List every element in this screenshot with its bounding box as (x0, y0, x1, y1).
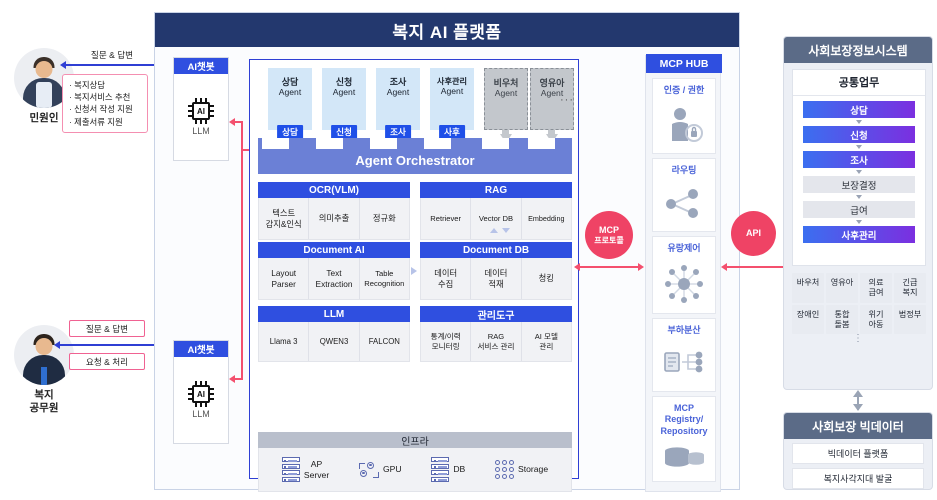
orch-notch (528, 138, 555, 149)
module-document-ai-title: Document AI (258, 242, 410, 258)
storage-grid-icon (495, 460, 514, 479)
database-rack-icon (431, 457, 449, 482)
ai-chip-icon: AI (188, 98, 214, 124)
bigdata-to-sbis-arrow-icon (853, 390, 863, 397)
module-llm: LLM Llama 3 QWEN3 FALCON (258, 306, 410, 362)
orch-notch (482, 138, 509, 149)
mcp-protocol-arrow-line (580, 266, 640, 268)
hub-spokes-icon (653, 254, 715, 313)
agent-name-ko: 조사 (390, 77, 407, 87)
ai-chatbot-officer-header: AI챗봇 (174, 341, 228, 357)
module-docai-cell-3: Table Recognition (360, 258, 409, 299)
agent-card-investigation[interactable]: 조사 Agent 조사 (376, 68, 420, 130)
agent-name-en: Agent (279, 87, 301, 97)
flow-arrow-icon (856, 120, 862, 124)
service-legal-dept[interactable]: 법정부 (894, 305, 926, 335)
service-emergency-welfare[interactable]: 긴급 복지 (894, 273, 926, 303)
mcp-protocol-circle: MCP 프로토콜 (585, 211, 633, 259)
infra-item-storage: Storage (495, 460, 548, 479)
rag-db-down-arrow-icon (502, 228, 510, 233)
hub-card-routing[interactable]: 라우팅 (652, 158, 716, 232)
agent-badge: 사후 (439, 125, 465, 139)
connector-orch-to-chatbots-vertical (241, 121, 243, 379)
module-admin-tools: 관리도구 통계/이력 모니터링 RAG 서비스 관리 AI 모델 관리 (420, 306, 572, 362)
service-crisis-children[interactable]: 위기 아동 (860, 305, 892, 335)
hub-card-flow-control-label: 유랑제어 (667, 243, 700, 254)
database-stack-icon (653, 437, 715, 481)
orchestrator-label: Agent Orchestrator (355, 153, 474, 168)
agent-orchestrator-bar: Agent Orchestrator (258, 138, 572, 174)
api-arrow-line (727, 266, 785, 268)
module-ocr: OCR(VLM) 텍스트 감지&인식 의미추출 정규화 (258, 182, 410, 240)
module-ocr-title: OCR(VLM) (258, 182, 410, 198)
mcp-protocol-line2: 프로토콜 (594, 236, 623, 246)
module-ocr-cell-2: 의미추출 (309, 198, 359, 239)
rag-db-up-arrow-icon (490, 228, 498, 233)
arrow-officer-head-left (54, 341, 60, 349)
bigdata-row-blindspot[interactable]: 복지사각지대 발굴 (792, 468, 924, 489)
agent-name-en: Agent (387, 87, 409, 97)
services-vertical-ellipsis: ⋮ (784, 333, 934, 344)
hub-card-flow-control[interactable]: 유랑제어 (652, 236, 716, 314)
module-llm-cell-1: Llama 3 (259, 322, 309, 361)
user-lock-icon (653, 96, 715, 153)
arrow-officer-line (60, 344, 162, 346)
agent-name-ko: 신청 (336, 77, 353, 87)
bigdata-row-platform[interactable]: 빅데이터 플랫폼 (792, 443, 924, 464)
agent-name-ko: 비우처 (494, 78, 519, 88)
ai-chatbot-officer[interactable]: AI챗봇 AI LLM (173, 340, 229, 444)
flow-arrow-icon (856, 195, 862, 199)
infra-label-storage: Storage (518, 464, 548, 474)
hub-card-registry-label: MCP Registry/ Repository (660, 403, 707, 437)
module-llm-title: LLM (258, 306, 410, 322)
module-docdb-cell-2: 데이터 적재 (471, 258, 521, 299)
arrow-citizen-head-left (60, 61, 66, 69)
docai-to-docdb-arrow-icon (411, 267, 417, 275)
module-rag-title: RAG (420, 182, 572, 198)
ai-chip-icon: AI (188, 381, 214, 407)
service-disabled[interactable]: 장애인 (792, 305, 824, 335)
server-rack-icon (282, 457, 300, 482)
tech-stack-frame: 상담 Agent 상담 신청 Agent 신청 조사 Agent 조사 사후관리… (249, 59, 579, 479)
officer-name-line1: 복지 (34, 389, 53, 401)
ai-chip-label: AI (192, 102, 210, 120)
module-document-db-title: Document DB (420, 242, 572, 258)
flow-step-guarantee-decision[interactable]: 보장결정 (803, 176, 915, 193)
module-docai-cell-1: Layout Parser (259, 258, 309, 299)
flow-step-benefit[interactable]: 급여 (803, 201, 915, 218)
service-medical-benefit[interactable]: 의료 급여 (860, 273, 892, 303)
flow-arrow-icon (856, 145, 862, 149)
service-voucher[interactable]: 바우처 (792, 273, 824, 303)
gpu-icon (359, 461, 379, 479)
agent-card-aftercare[interactable]: 사후관리 Agent 사후 (430, 68, 474, 130)
infra-label-ap-server: AP Server (304, 459, 329, 480)
mcp-hub-title: MCP HUB (646, 54, 722, 73)
infra-section: 인프라 AP Server GPU DB (258, 432, 572, 492)
hub-card-load-balancing-label: 부하분산 (667, 325, 700, 336)
flow-arrow-icon (856, 220, 862, 224)
flow-arrow-icon (856, 170, 862, 174)
flow-step-consultation[interactable]: 상담 (803, 101, 915, 118)
api-circle: API (731, 211, 776, 256)
module-llm-cell-3: FALCON (360, 322, 409, 361)
agent-name-ko: 사후관리 (437, 77, 467, 86)
agent-card-consultation[interactable]: 상담 Agent 상담 (268, 68, 312, 130)
mcp-protocol-arrow-head-right (638, 263, 644, 271)
flow-step-aftercare[interactable]: 사후관리 (803, 226, 915, 243)
ai-chatbot-citizen[interactable]: AI챗봇 AI LLM (173, 57, 229, 161)
service-grid: 바우처 영유아 의료 급여 긴급 복지 장애인 통합 돌봄 위기 아동 법정부 (792, 273, 926, 334)
load-balancer-icon (653, 336, 715, 391)
arrow-label-officer-request: 요청 & 처리 (69, 353, 145, 370)
social-security-bigdata-panel: 사회보장 빅데이터 빅데이터 플랫폼 복지사각지대 발굴 (783, 412, 933, 490)
hub-card-routing-label: 라우팅 (672, 165, 697, 176)
infra-label-db: DB (453, 464, 465, 474)
sbis-to-bigdata-arrow-icon (853, 404, 863, 411)
agent-name-en: Agent (495, 88, 517, 98)
service-infant[interactable]: 영유아 (826, 273, 858, 303)
routing-nodes-icon (653, 176, 715, 231)
orch-notch (262, 138, 289, 149)
actor-welfare-officer: 복지 공무원 (6, 325, 82, 415)
orch-notch (370, 138, 397, 149)
module-admin-cell-3: AI 모델 관리 (522, 322, 571, 361)
agent-row: 상담 Agent 상담 신청 Agent 신청 조사 Agent 조사 사후관리… (258, 68, 572, 144)
agents-ellipsis: ··· (560, 94, 574, 106)
ai-chatbot-citizen-header: AI챗봇 (174, 58, 228, 74)
agent-name-ko: 상담 (282, 77, 299, 87)
officer-name-line2: 공무원 (30, 402, 59, 414)
agent-badge: 신청 (331, 125, 357, 139)
api-arrow-head-left (721, 263, 727, 271)
module-document-ai: Document AI Layout Parser Text Extractio… (258, 242, 410, 300)
agent-name-en: Agent (333, 87, 355, 97)
module-rag-cell-3: Embedding (522, 198, 571, 239)
common-business-box: 공통업무 상담 신청 조사 보장결정 급여 사후관리 (792, 69, 926, 266)
hub-card-registry[interactable]: MCP Registry/ Repository (652, 396, 716, 482)
agent-card-application[interactable]: 신청 Agent 신청 (322, 68, 366, 130)
orch-notch (424, 138, 451, 149)
module-docdb-cell-1: 데이터 수집 (421, 258, 471, 299)
flow-step-application[interactable]: 신청 (803, 126, 915, 143)
common-business-title: 공통업무 (793, 70, 925, 96)
module-admin-tools-title: 관리도구 (420, 306, 572, 322)
agent-card-voucher[interactable]: 비우처 Agent (484, 68, 528, 130)
arrow-label-citizen-qa: 질문 & 답변 (76, 47, 148, 62)
service-integrated-care[interactable]: 통합 돌봄 (826, 305, 858, 335)
llm-label-officer: LLM (192, 409, 210, 419)
infra-item-gpu: GPU (359, 461, 402, 479)
citizen-capability-1: · 복지상담 (69, 79, 141, 91)
hub-card-auth[interactable]: 인증 / 권한 (652, 78, 716, 154)
connector-orch-to-officer-h (235, 378, 243, 380)
api-label: API (746, 228, 761, 239)
hub-card-load-balancing[interactable]: 부하분산 (652, 318, 716, 392)
orch-notch (316, 138, 343, 149)
connector-officer-arrowhead (229, 375, 235, 383)
infra-item-ap-server: AP Server (282, 457, 329, 482)
agent-name-ko: 영유아 (540, 78, 565, 88)
module-docai-cell-2: Text Extraction (309, 258, 359, 299)
module-document-db: Document DB 데이터 수집 데이터 적재 청킹 (420, 242, 572, 300)
agent-name-en: Agent (441, 86, 463, 96)
llm-label-citizen: LLM (192, 126, 210, 136)
arrow-label-officer-qa: 질문 & 답변 (69, 320, 145, 337)
citizen-capability-2: · 복지서비스 추천 (69, 91, 141, 103)
module-admin-cell-2: RAG 서비스 관리 (471, 322, 521, 361)
module-ocr-cell-1: 텍스트 감지&인식 (259, 198, 309, 239)
infra-item-db: DB (431, 457, 465, 482)
citizen-capability-list: · 복지상담 · 복지서비스 추천 · 신청서 작성 지원 · 제출서류 지원 (62, 74, 148, 133)
module-ocr-cell-3: 정규화 (360, 198, 409, 239)
mcp-protocol-line1: MCP (599, 225, 619, 236)
arrow-citizen-line (66, 64, 162, 66)
hub-card-auth-label: 인증 / 권한 (664, 85, 705, 96)
mcp-protocol-arrow-head-left (574, 263, 580, 271)
connector-citizen-arrowhead (229, 118, 235, 126)
bigdata-title: 사회보장 빅데이터 (784, 413, 932, 439)
connector-orch-to-citizen-h (235, 121, 243, 123)
module-admin-cell-1: 통계/이력 모니터링 (421, 322, 471, 361)
module-rag-cell-1: Retriever (421, 198, 471, 239)
module-llm-cell-2: QWEN3 (309, 322, 359, 361)
infra-title: 인프라 (258, 432, 572, 448)
infra-label-gpu: GPU (383, 464, 402, 474)
flow-step-investigation[interactable]: 조사 (803, 151, 915, 168)
avatar-welfare-officer (14, 325, 74, 385)
platform-title: 복지 AI 플랫폼 (155, 13, 739, 47)
mcp-hub-panel: MCP HUB 인증 / 권한 라우팅 유랑제어 (645, 55, 721, 492)
citizen-capability-3: · 신청서 작성 지원 (69, 103, 141, 115)
ai-chip-label: AI (192, 385, 210, 403)
citizen-capability-4: · 제출서류 지원 (69, 116, 141, 128)
social-security-info-system-panel: 사회보장정보시스템 공통업무 상담 신청 조사 보장결정 급여 사후관리 바우처… (783, 36, 933, 390)
module-docdb-cell-3: 청킹 (522, 258, 571, 299)
agent-badge: 조사 (385, 125, 411, 139)
agent-badge: 상담 (277, 125, 303, 139)
actor-welfare-officer-label: 복지 공무원 (6, 389, 82, 415)
sbis-title: 사회보장정보시스템 (784, 37, 932, 63)
